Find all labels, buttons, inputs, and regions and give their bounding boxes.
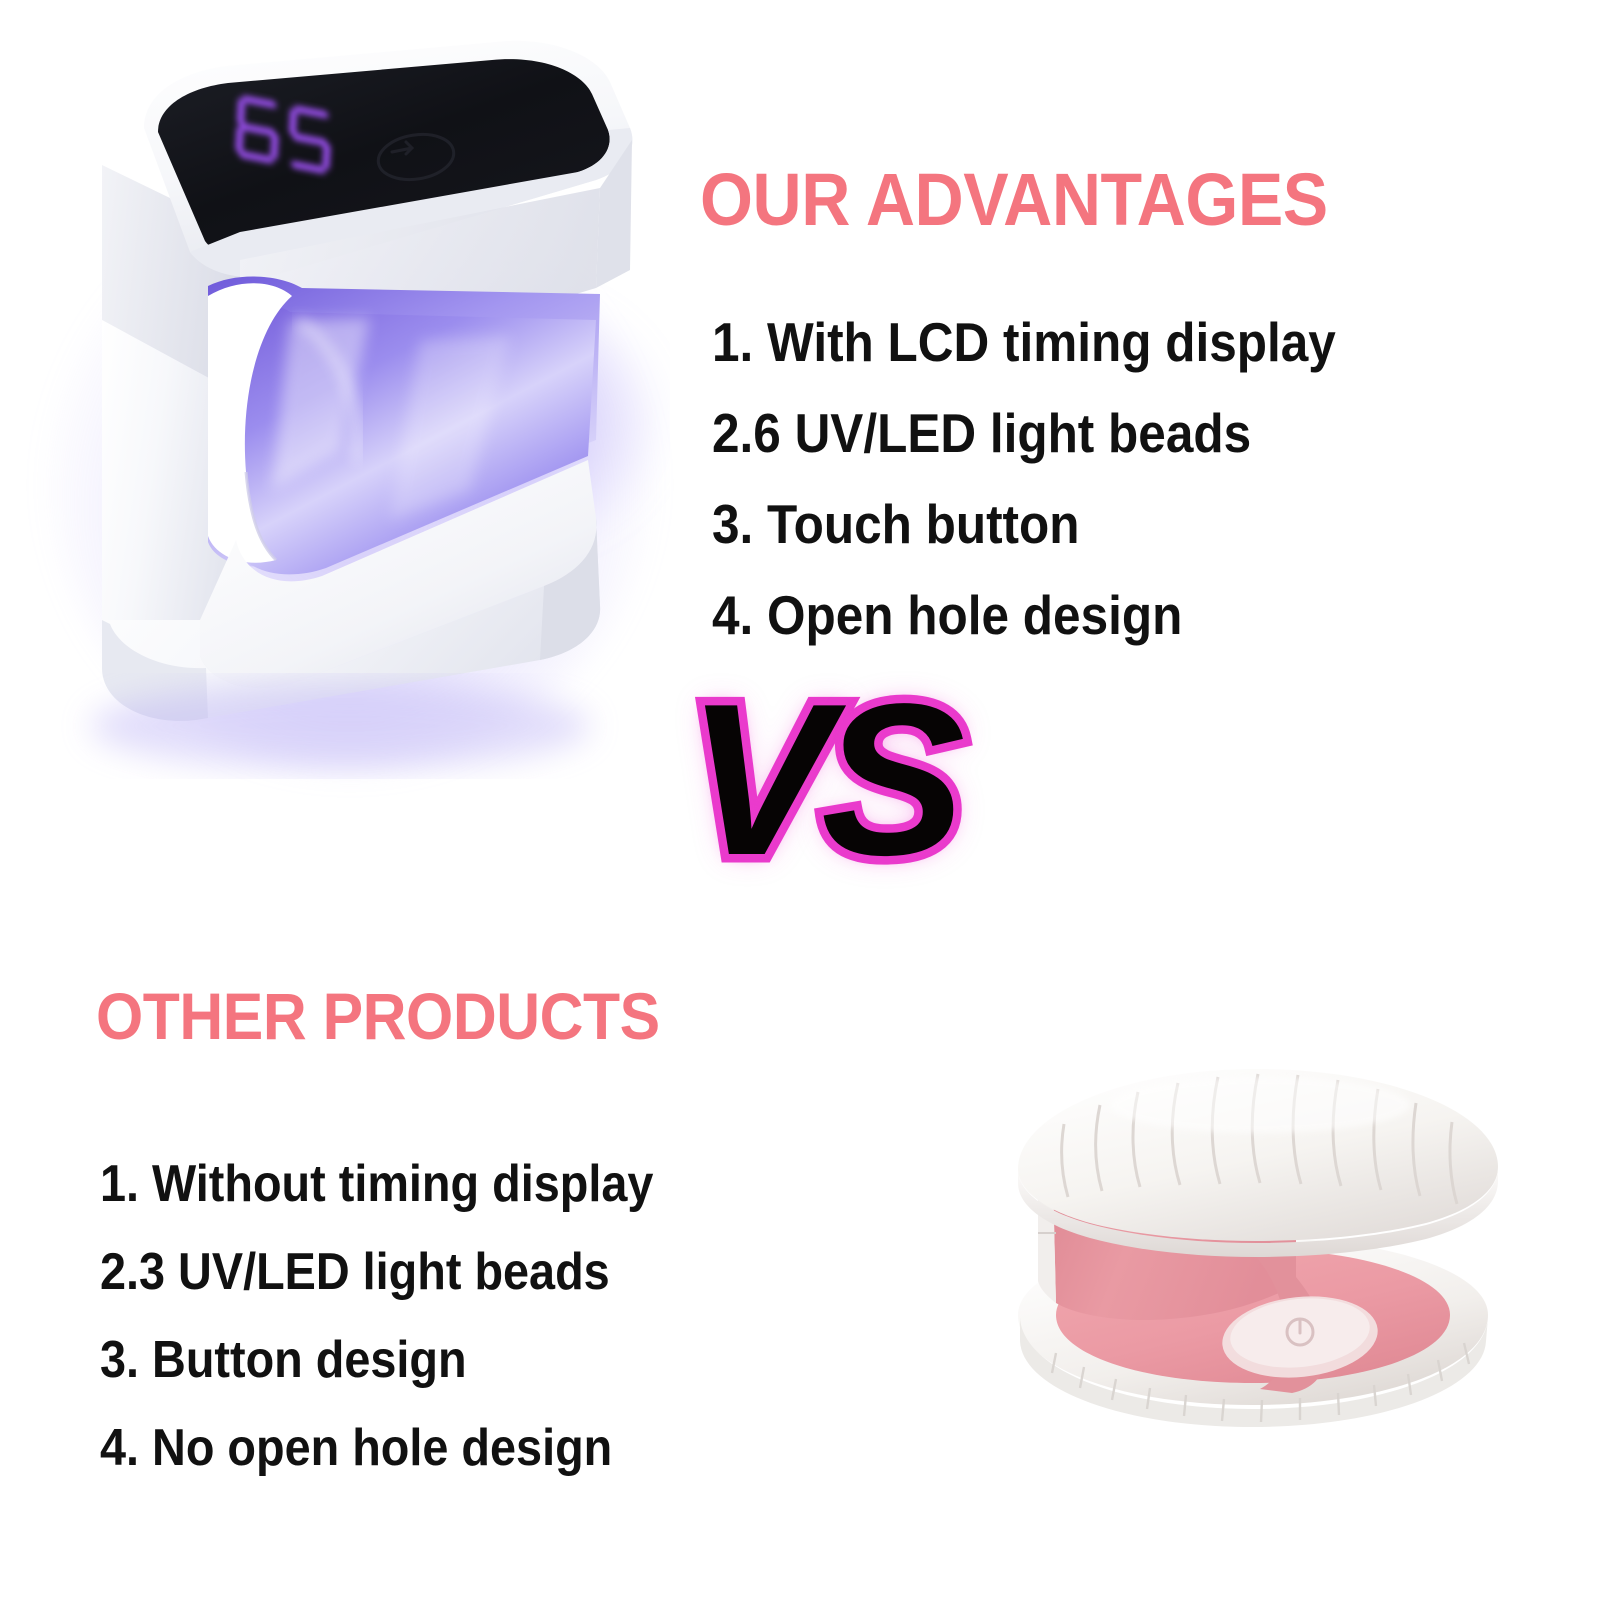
our-advantages-heading: OUR ADVANTAGES	[700, 163, 1328, 237]
other-item-3: 3. Button design	[100, 1316, 653, 1404]
versus-badge: VS	[646, 664, 996, 894]
pink-shell-nail-lamp-illustration	[960, 985, 1540, 1485]
other-item-1: 1. Without timing display	[100, 1140, 653, 1228]
other-item-2: 2.3 UV/LED light beads	[100, 1228, 653, 1316]
advantage-item-4: 4. Open hole design	[712, 570, 1336, 661]
uv-nail-lamp-illustration	[40, 20, 670, 780]
advantage-item-1: 1. With LCD timing display	[712, 297, 1336, 388]
other-item-4: 4. No open hole design	[100, 1404, 653, 1492]
our-advantages-list: 1. With LCD timing display 2.6 UV/LED li…	[712, 297, 1405, 661]
advantage-item-3: 3. Touch button	[712, 479, 1336, 570]
other-products-list: 1. Without timing display 2.3 UV/LED lig…	[100, 1140, 715, 1492]
other-products-heading: OTHER PRODUCTS	[96, 983, 660, 1049]
versus-label: VS	[646, 664, 996, 894]
advantage-item-2: 2.6 UV/LED light beads	[712, 388, 1336, 479]
our-product-image	[40, 20, 670, 780]
other-product-image	[960, 985, 1540, 1485]
